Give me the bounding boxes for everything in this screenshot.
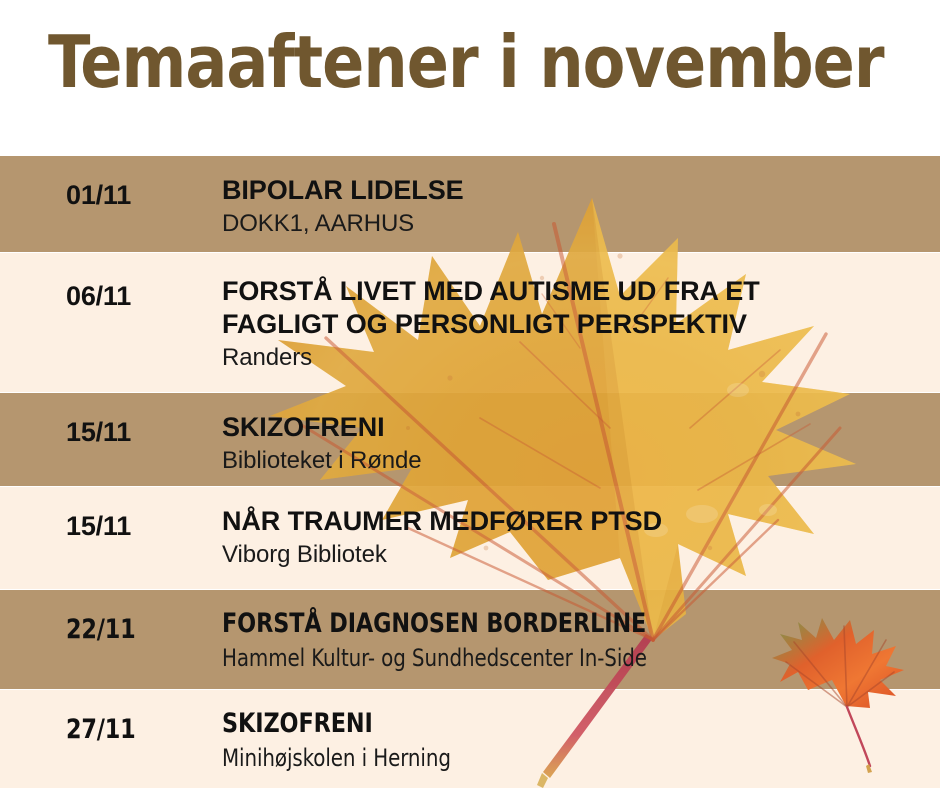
maple-leaf-small bbox=[768, 608, 940, 788]
page-title: Temaaftener i november bbox=[48, 26, 884, 98]
poster-canvas: Temaaftener i november 01/11BIPOLAR LIDE… bbox=[0, 0, 940, 788]
poster-header: Temaaftener i november bbox=[0, 0, 940, 156]
